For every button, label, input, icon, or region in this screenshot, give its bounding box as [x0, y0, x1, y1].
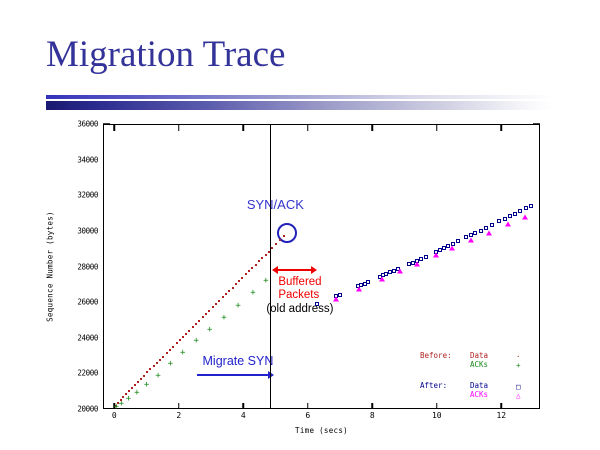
- buffered-packets-arrow: [278, 269, 311, 271]
- x-axis-tick-mark-top: [501, 125, 503, 131]
- y-axis-tick-labels: 2000022000240002600028000300003200034000…: [54, 124, 98, 409]
- legend-row-after-acks: ACKs △: [420, 390, 535, 399]
- x-axis-tick-mark: [243, 403, 245, 409]
- migration-line: [270, 124, 272, 409]
- y-axis-tick-label: 22000: [77, 369, 98, 378]
- title-rule-thick: [46, 101, 554, 110]
- x-axis-tick-label: 4: [241, 411, 246, 420]
- migrate-syn-arrow: [197, 374, 269, 376]
- x-axis-tick-mark: [501, 403, 503, 409]
- legend-group-after: After:: [420, 381, 447, 390]
- x-axis-tick-mark: [307, 403, 309, 409]
- chart-legend: Before: Data · ACKs + After: Data □ ACKs…: [420, 351, 535, 399]
- title-rule-thin: [46, 95, 554, 99]
- slide: Migration Trace 200002200024000260002800…: [0, 0, 600, 450]
- x-axis-tick-mark-top: [307, 125, 309, 131]
- x-axis-tick-mark: [372, 403, 374, 409]
- legend-label-after-data: Data: [470, 381, 488, 390]
- x-axis-tick-label: 2: [176, 411, 181, 420]
- x-axis-tick-label: 12: [496, 411, 506, 420]
- x-axis-tick-mark-top: [372, 125, 374, 131]
- y-axis-tick-label: 30000: [77, 226, 98, 235]
- old-address-annotation: (old address): [266, 303, 333, 315]
- migrate-syn-annotation: Migrate SYN: [203, 354, 274, 368]
- x-axis-tick-label: 8: [370, 411, 375, 420]
- legend-row-before-data: Before: Data ·: [420, 351, 535, 360]
- x-axis-tick-labels: 024681012: [103, 409, 540, 425]
- buffered-packets-line1: Buffered: [278, 276, 311, 289]
- x-axis-title: Time (secs): [103, 426, 540, 435]
- syn-ack-annotation: SYN/ACK: [247, 197, 304, 212]
- y-axis-tick-label: 26000: [77, 298, 98, 307]
- x-axis-tick-label: 10: [432, 411, 442, 420]
- migration-trace-chart: 2000022000240002600028000300003200034000…: [0, 112, 600, 450]
- syn-ack-circle-highlight: [277, 223, 297, 243]
- legend-label-before-data: Data: [470, 351, 488, 360]
- y-axis-tick-label: 32000: [77, 191, 98, 200]
- y-axis-title: Sequence Number (bytes): [46, 187, 55, 347]
- legend-label-before-acks: ACKs: [470, 360, 488, 369]
- x-axis-tick-mark: [436, 403, 438, 409]
- x-axis-tick-mark-top: [114, 125, 116, 131]
- legend-row-after-data: After: Data □: [420, 381, 535, 390]
- page-title: Migration Trace: [46, 34, 285, 76]
- y-axis-tick-label: 28000: [77, 262, 98, 271]
- x-axis-tick-mark-top: [243, 125, 245, 131]
- legend-group-before: Before:: [420, 351, 452, 360]
- x-axis-tick-label: 0: [112, 411, 117, 420]
- y-axis-tick-label: 34000: [77, 155, 98, 164]
- legend-label-after-acks: ACKs: [470, 390, 488, 399]
- y-axis-tick-label: 36000: [77, 120, 98, 129]
- x-axis-tick-mark-top: [178, 125, 180, 131]
- x-axis-tick-mark: [114, 403, 116, 409]
- legend-row-before-acks: ACKs +: [420, 360, 535, 369]
- buffered-packets-line2: Packets: [278, 289, 311, 302]
- y-axis-tick-label: 24000: [77, 333, 98, 342]
- x-axis-tick-mark: [178, 403, 180, 409]
- legend-marker-after-acks: △: [516, 391, 521, 400]
- y-axis-tick-label: 20000: [77, 405, 98, 414]
- x-axis-tick-label: 6: [305, 411, 310, 420]
- x-axis-tick-mark-top: [436, 125, 438, 131]
